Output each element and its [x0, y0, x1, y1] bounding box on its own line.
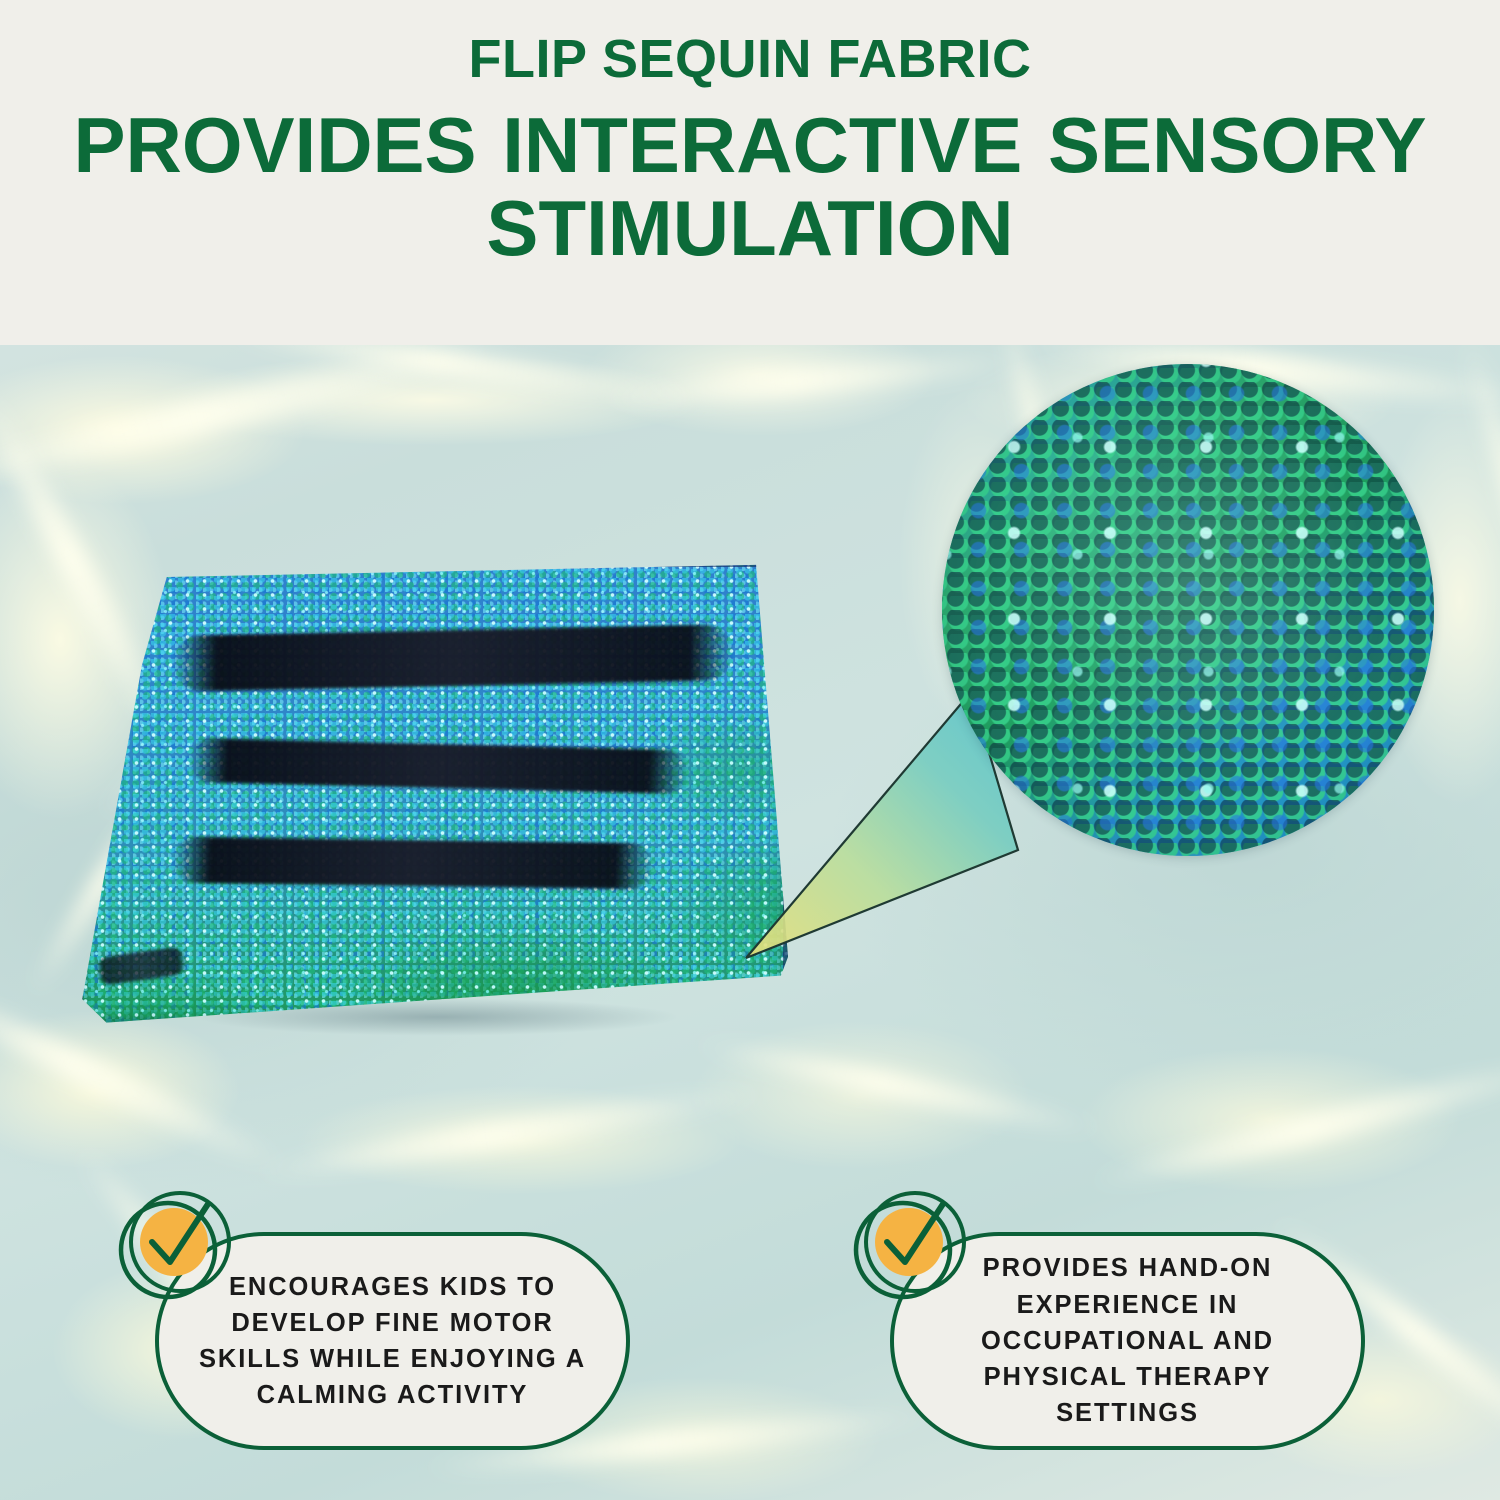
- header-band: FLIP SEQUIN FABRIC PROVIDES INTERACTIVE …: [0, 0, 1500, 345]
- eyebrow-title: FLIP SEQUIN FABRIC: [468, 32, 1031, 86]
- infographic-canvas: FLIP SEQUIN FABRIC PROVIDES INTERACTIVE …: [0, 0, 1500, 1500]
- page-title: PROVIDES INTERACTIVE SENSORY STIMULATION: [5, 104, 1495, 271]
- check-circle-icon: [853, 1186, 971, 1304]
